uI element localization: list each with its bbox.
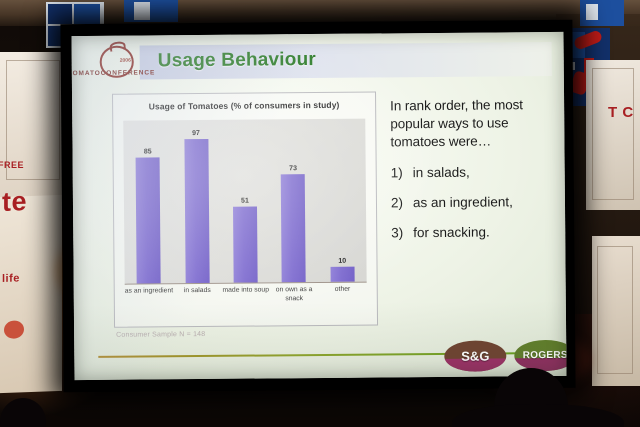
chart-bar-value: 85 (123, 148, 171, 155)
banner-text-free: FREE (0, 160, 24, 170)
rank-list-item: 3)for snacking. (391, 223, 557, 241)
chart-panel: Usage of Tomatoes (% of consumers in stu… (112, 91, 378, 327)
logo-year: 2006 (120, 58, 131, 64)
chart-category-label: made into soup (221, 286, 269, 295)
chart-bar-slot: 73 (268, 119, 318, 282)
banner-text-tc: T C (608, 106, 634, 120)
chart-bar (136, 157, 161, 283)
sg-logo: S&G (444, 340, 506, 372)
chart-bars: 8597517310 (123, 119, 366, 284)
tomato-photo (4, 320, 24, 339)
rank-order-text-block: In rank order, the most popular ways to … (390, 96, 557, 241)
photo-scene: FREE te life T C 2006 TOMATOCONFERENCE U… (0, 0, 640, 427)
rogers-logo: ROGERS (514, 340, 566, 372)
rank-item-number: 3) (391, 224, 406, 241)
projection-screen: 2006 TOMATOCONFERENCE Usage Behaviour Us… (72, 32, 567, 380)
banner-text-te: te (2, 186, 27, 218)
rank-item-number: 2) (391, 194, 406, 211)
chart-footnote: Consumer Sample N = 148 (116, 331, 205, 339)
rogers-logo-label: ROGERS (523, 350, 567, 361)
stained-glass-window-upper-right (580, 0, 624, 26)
rank-item-text: as an ingredient, (413, 193, 513, 211)
projection-screen-frame: 2006 TOMATOCONFERENCE Usage Behaviour Us… (60, 20, 575, 392)
rank-list: 1)in salads,2)as an ingredient,3)for sna… (391, 163, 558, 241)
chart-bar (281, 174, 306, 282)
chart-bar-slot: 51 (220, 119, 270, 282)
stained-glass-window-top (124, 0, 178, 22)
chart-bar-slot: 10 (317, 119, 367, 282)
venue-banner-right-upper: T C (586, 60, 640, 210)
rank-item-text: for snacking. (413, 224, 490, 242)
tomato-conference-logo: 2006 (86, 41, 152, 88)
chart-category-label: on own as a snack (270, 286, 319, 304)
chart-title: Usage of Tomatoes (% of consumers in stu… (113, 99, 375, 111)
chart-bar-value: 97 (172, 130, 220, 137)
chart-bar-value: 51 (221, 198, 269, 205)
chart-category-label: other (318, 286, 366, 295)
rank-item-text: in salads, (413, 164, 470, 181)
banner-text-life: life (2, 272, 20, 285)
chart-bar (184, 139, 209, 283)
venue-banner-right-lower (592, 236, 640, 386)
rank-lead-text: In rank order, the most popular ways to … (390, 96, 556, 151)
chart-bar (233, 207, 258, 283)
chart-bar (330, 267, 354, 282)
chart-bar-slot: 85 (123, 120, 173, 283)
chart-bar-value: 10 (318, 258, 366, 265)
presentation-slide: 2006 TOMATOCONFERENCE Usage Behaviour Us… (72, 32, 567, 380)
rank-list-item: 1)in salads, (391, 163, 557, 181)
sg-logo-label: S&G (461, 349, 489, 364)
rank-list-item: 2)as an ingredient, (391, 193, 557, 211)
chart-category-labels: as an ingredientin saladsmade into soupo… (125, 286, 367, 318)
rank-item-number: 1) (391, 164, 406, 181)
chart-bar-slot: 97 (172, 120, 222, 283)
slide-title: Usage Behaviour (158, 49, 316, 72)
chart-category-label: as an ingredient (125, 287, 173, 296)
chart-category-label: in salads (173, 287, 221, 296)
venue-banner-left-upper: FREE (0, 52, 66, 202)
logo-wordmark: TOMATOCONFERENCE (72, 69, 148, 77)
chart-bar-value: 73 (269, 165, 317, 172)
venue-banner-left-lower: te life (0, 195, 62, 393)
